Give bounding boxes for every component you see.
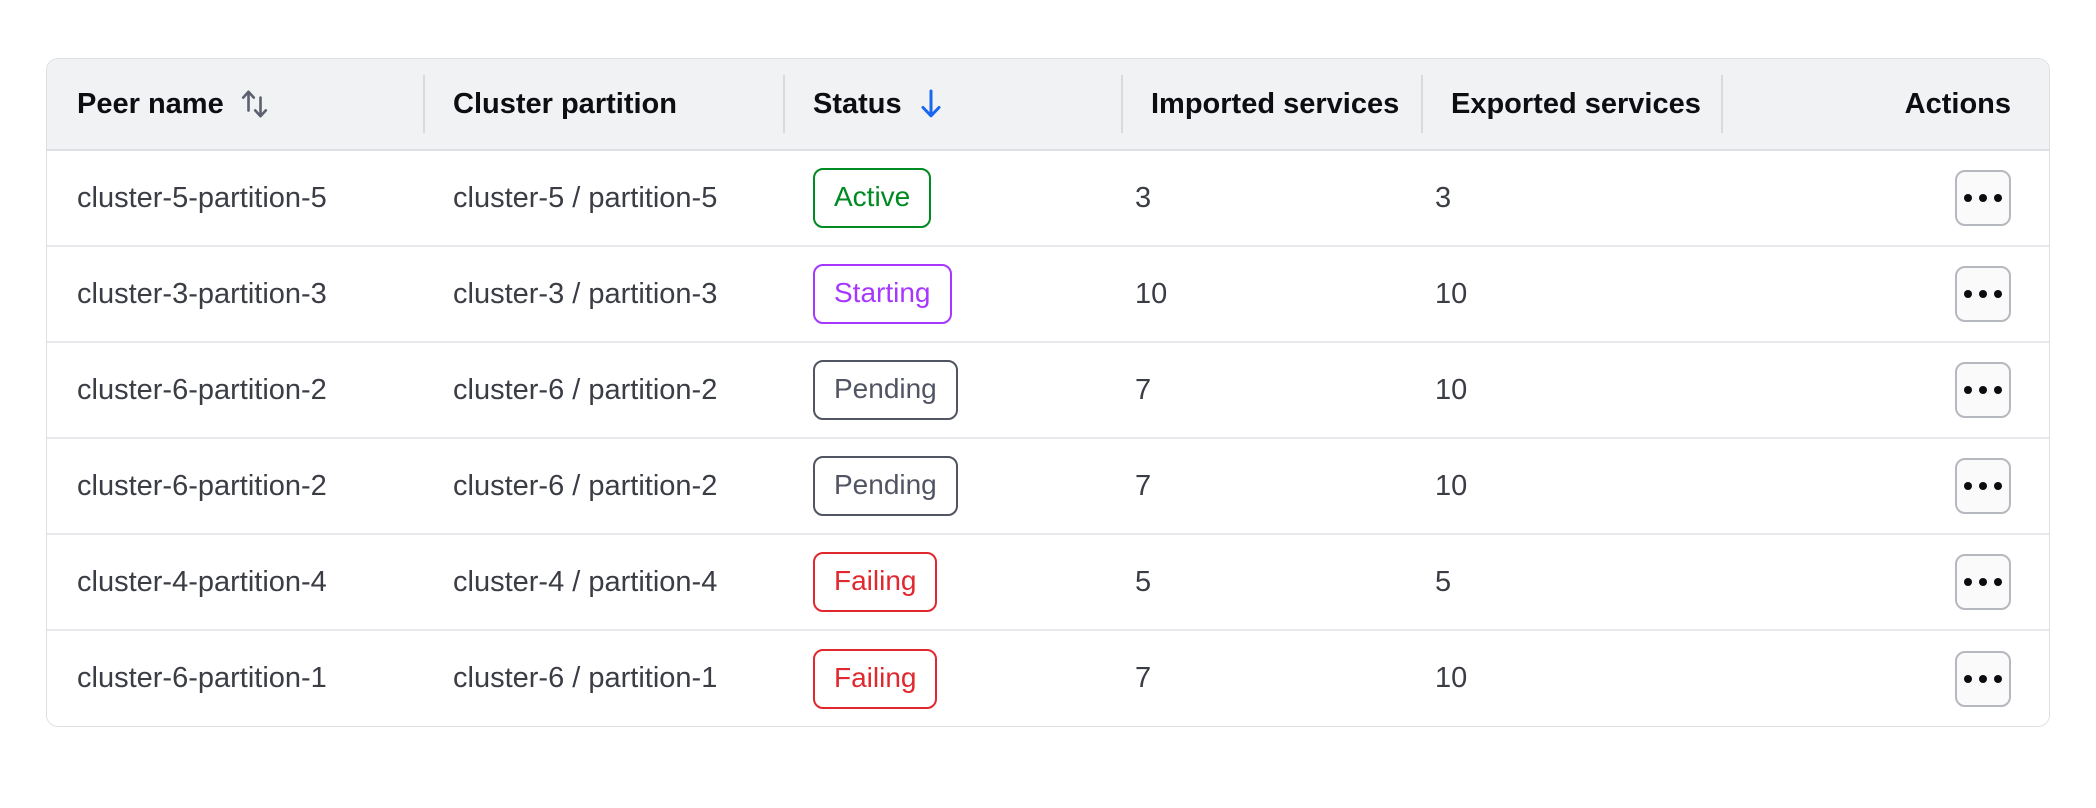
ellipsis-dot-icon xyxy=(1979,578,1987,586)
table-body: cluster-5-partition-5 cluster-5 / partit… xyxy=(47,150,2049,726)
cell-cluster-partition: cluster-3 / partition-3 xyxy=(423,246,783,342)
table-row[interactable]: cluster-6-partition-2 cluster-6 / partit… xyxy=(47,342,2049,438)
ellipsis-dot-icon xyxy=(1964,290,1972,298)
peers-table-page: Peer name xyxy=(0,0,2096,808)
cell-exported-services: 10 xyxy=(1421,342,1721,438)
table-header: Peer name xyxy=(47,59,2049,150)
row-actions-menu-button[interactable] xyxy=(1955,362,2011,418)
cell-peer-name: cluster-6-partition-1 xyxy=(47,630,423,726)
ellipsis-dot-icon xyxy=(1964,386,1972,394)
table-row[interactable]: cluster-4-partition-4 cluster-4 / partit… xyxy=(47,534,2049,630)
cell-actions xyxy=(1721,246,2049,342)
status-badge: Failing xyxy=(813,552,937,612)
cell-cluster-partition: cluster-6 / partition-1 xyxy=(423,630,783,726)
cell-imported-services: 7 xyxy=(1121,438,1421,534)
cell-actions xyxy=(1721,438,2049,534)
column-header-peer-name-label: Peer name xyxy=(77,88,224,121)
peers-table-card: Peer name xyxy=(46,58,2050,727)
cell-status: Pending xyxy=(783,342,1121,438)
table-row[interactable]: cluster-5-partition-5 cluster-5 / partit… xyxy=(47,150,2049,246)
cell-status: Failing xyxy=(783,630,1121,726)
cell-cluster-partition: cluster-5 / partition-5 xyxy=(423,150,783,246)
table-row[interactable]: cluster-6-partition-1 cluster-6 / partit… xyxy=(47,630,2049,726)
cell-imported-services: 3 xyxy=(1121,150,1421,246)
column-header-peer-name[interactable]: Peer name xyxy=(47,59,423,150)
row-actions-menu-button[interactable] xyxy=(1955,170,2011,226)
ellipsis-dot-icon xyxy=(1979,482,1987,490)
cell-exported-services: 10 xyxy=(1421,246,1721,342)
cell-imported-services: 7 xyxy=(1121,342,1421,438)
row-actions-menu-button[interactable] xyxy=(1955,458,2011,514)
status-badge: Active xyxy=(813,168,931,228)
cell-imported-services: 5 xyxy=(1121,534,1421,630)
ellipsis-dot-icon xyxy=(1994,386,2002,394)
column-header-imported-services-label: Imported services xyxy=(1151,88,1399,121)
row-actions-menu-button[interactable] xyxy=(1955,554,2011,610)
cell-cluster-partition: cluster-6 / partition-2 xyxy=(423,438,783,534)
column-header-imported-services[interactable]: Imported services xyxy=(1121,59,1421,150)
column-header-cluster-partition-label: Cluster partition xyxy=(453,88,677,121)
cell-actions xyxy=(1721,342,2049,438)
cell-status: Pending xyxy=(783,438,1121,534)
ellipsis-dot-icon xyxy=(1979,386,1987,394)
column-header-status-label: Status xyxy=(813,88,902,121)
row-actions-menu-button[interactable] xyxy=(1955,266,2011,322)
cell-exported-services: 10 xyxy=(1421,630,1721,726)
table-row[interactable]: cluster-6-partition-2 cluster-6 / partit… xyxy=(47,438,2049,534)
table-row[interactable]: cluster-3-partition-3 cluster-3 / partit… xyxy=(47,246,2049,342)
column-header-exported-services-label: Exported services xyxy=(1451,88,1701,121)
cell-cluster-partition: cluster-4 / partition-4 xyxy=(423,534,783,630)
ellipsis-dot-icon xyxy=(1964,482,1972,490)
cell-exported-services: 5 xyxy=(1421,534,1721,630)
ellipsis-dot-icon xyxy=(1964,194,1972,202)
cell-actions xyxy=(1721,150,2049,246)
ellipsis-dot-icon xyxy=(1979,675,1987,683)
cell-peer-name: cluster-4-partition-4 xyxy=(47,534,423,630)
cell-cluster-partition: cluster-6 / partition-2 xyxy=(423,342,783,438)
column-header-exported-services[interactable]: Exported services xyxy=(1421,59,1721,150)
status-badge: Failing xyxy=(813,649,937,709)
status-badge: Starting xyxy=(813,264,952,324)
peers-table: Peer name xyxy=(47,59,2049,726)
cell-imported-services: 10 xyxy=(1121,246,1421,342)
ellipsis-dot-icon xyxy=(1994,482,2002,490)
status-badge: Pending xyxy=(813,456,958,516)
ellipsis-dot-icon xyxy=(1979,194,1987,202)
cell-peer-name: cluster-3-partition-3 xyxy=(47,246,423,342)
ellipsis-dot-icon xyxy=(1994,290,2002,298)
column-header-status[interactable]: Status xyxy=(783,59,1121,150)
table-header-row: Peer name xyxy=(47,59,2049,150)
column-header-actions: Actions xyxy=(1721,59,2049,150)
cell-status: Active xyxy=(783,150,1121,246)
ellipsis-dot-icon xyxy=(1994,675,2002,683)
cell-peer-name: cluster-5-partition-5 xyxy=(47,150,423,246)
ellipsis-dot-icon xyxy=(1964,675,1972,683)
ellipsis-dot-icon xyxy=(1994,194,2002,202)
cell-peer-name: cluster-6-partition-2 xyxy=(47,342,423,438)
cell-actions xyxy=(1721,630,2049,726)
cell-exported-services: 10 xyxy=(1421,438,1721,534)
cell-imported-services: 7 xyxy=(1121,630,1421,726)
sort-both-arrows-icon[interactable] xyxy=(240,87,270,121)
ellipsis-dot-icon xyxy=(1964,578,1972,586)
column-header-actions-label: Actions xyxy=(1905,88,2011,121)
column-header-cluster-partition[interactable]: Cluster partition xyxy=(423,59,783,150)
cell-status: Starting xyxy=(783,246,1121,342)
ellipsis-dot-icon xyxy=(1994,578,2002,586)
ellipsis-dot-icon xyxy=(1979,290,1987,298)
cell-exported-services: 3 xyxy=(1421,150,1721,246)
arrow-down-icon[interactable] xyxy=(918,87,944,121)
cell-peer-name: cluster-6-partition-2 xyxy=(47,438,423,534)
cell-status: Failing xyxy=(783,534,1121,630)
cell-actions xyxy=(1721,534,2049,630)
row-actions-menu-button[interactable] xyxy=(1955,651,2011,707)
status-badge: Pending xyxy=(813,360,958,420)
